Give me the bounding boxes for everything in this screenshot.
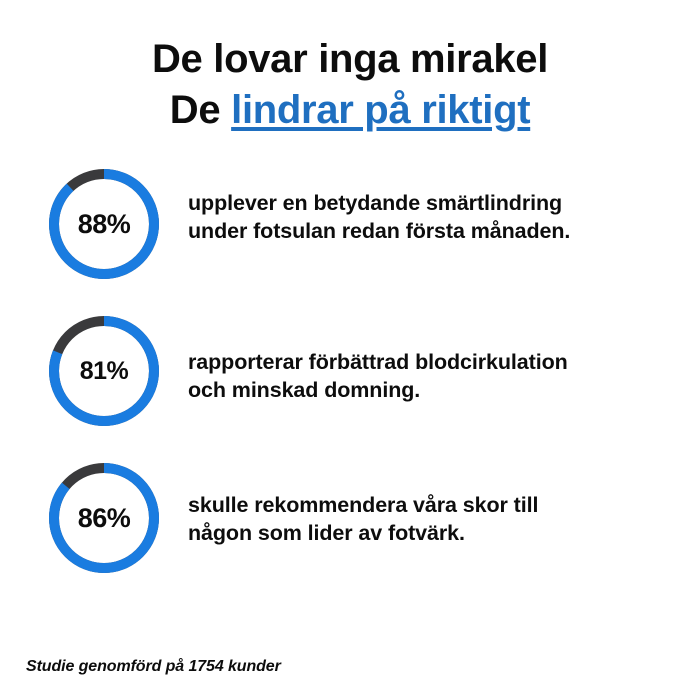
stat-row: 81% rapporterar förbättrad blodcirkulati… (0, 315, 700, 462)
stat-description-line-1: skulle rekommendera våra skor till (188, 492, 538, 520)
stat-description: upplever en betydande smärtlindring unde… (188, 190, 570, 246)
stats-list: 88% upplever en betydande smärtlindring … (0, 168, 700, 609)
stat-description-line-2: under fotsulan redan första månaden. (188, 218, 570, 246)
stat-row: 88% upplever en betydande smärtlindring … (0, 168, 700, 315)
headline: De lovar inga mirakel De lindrar på rikt… (0, 36, 700, 134)
stat-description-line-1: upplever en betydande smärtlindring (188, 190, 570, 218)
donut-svg (48, 315, 160, 427)
stat-description: skulle rekommendera våra skor till någon… (188, 492, 538, 548)
donut-chart-88: 88% (48, 168, 160, 280)
donut-chart-86: 86% (48, 462, 160, 574)
donut-chart-81: 81% (48, 315, 160, 427)
headline-prefix: De (170, 88, 231, 132)
headline-line-2: De lindrar på riktigt (0, 87, 700, 134)
stat-description: rapporterar förbättrad blodcirkulation o… (188, 349, 568, 405)
donut-value-arc (54, 174, 154, 274)
headline-link[interactable]: lindrar på riktigt (231, 88, 530, 132)
donut-svg (48, 462, 160, 574)
headline-line-1: De lovar inga mirakel (0, 36, 700, 83)
stat-description-line-2: någon som lider av fotvärk. (188, 520, 538, 548)
stat-description-line-1: rapporterar förbättrad blodcirkulation (188, 349, 568, 377)
infographic-page: De lovar inga mirakel De lindrar på rikt… (0, 0, 700, 700)
study-footnote: Studie genomförd på 1754 kunder (26, 658, 281, 676)
donut-svg (48, 168, 160, 280)
stat-description-line-2: och minskad domning. (188, 377, 568, 405)
stat-row: 86% skulle rekommendera våra skor till n… (0, 462, 700, 609)
